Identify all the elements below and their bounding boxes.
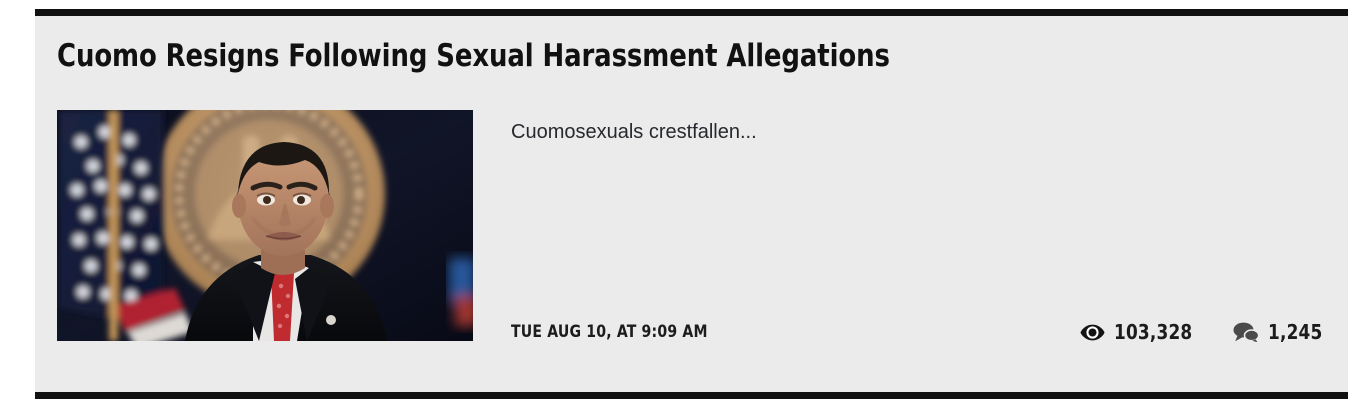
article-timestamp: TUE AUG 10, AT 9:09 AM [511, 322, 708, 342]
comment-count[interactable]: 1,245 [1233, 320, 1326, 344]
article-thumbnail[interactable] [57, 110, 473, 341]
article-thumbnail-image [57, 110, 473, 341]
page-root: Cuomo Resigns Following Sexual Harassmen… [0, 0, 1364, 418]
article-excerpt: Cuomosexuals crestfallen... [511, 118, 757, 146]
article-card-inner: Cuomo Resigns Following Sexual Harassmen… [35, 16, 1348, 392]
comment-count-value: 1,245 [1268, 320, 1322, 344]
page-title[interactable]: Cuomo Resigns Following Sexual Harassmen… [57, 37, 890, 75]
comments-icon [1233, 322, 1259, 342]
view-count-value: 103,328 [1114, 320, 1192, 344]
article-card[interactable]: Cuomo Resigns Following Sexual Harassmen… [35, 9, 1348, 399]
article-stats: 103,328 1,245 [1080, 320, 1326, 344]
article-meta-row: TUE AUG 10, AT 9:09 AM 103,328 [511, 319, 1326, 345]
eye-icon [1080, 324, 1105, 341]
view-count[interactable]: 103,328 [1080, 320, 1197, 344]
